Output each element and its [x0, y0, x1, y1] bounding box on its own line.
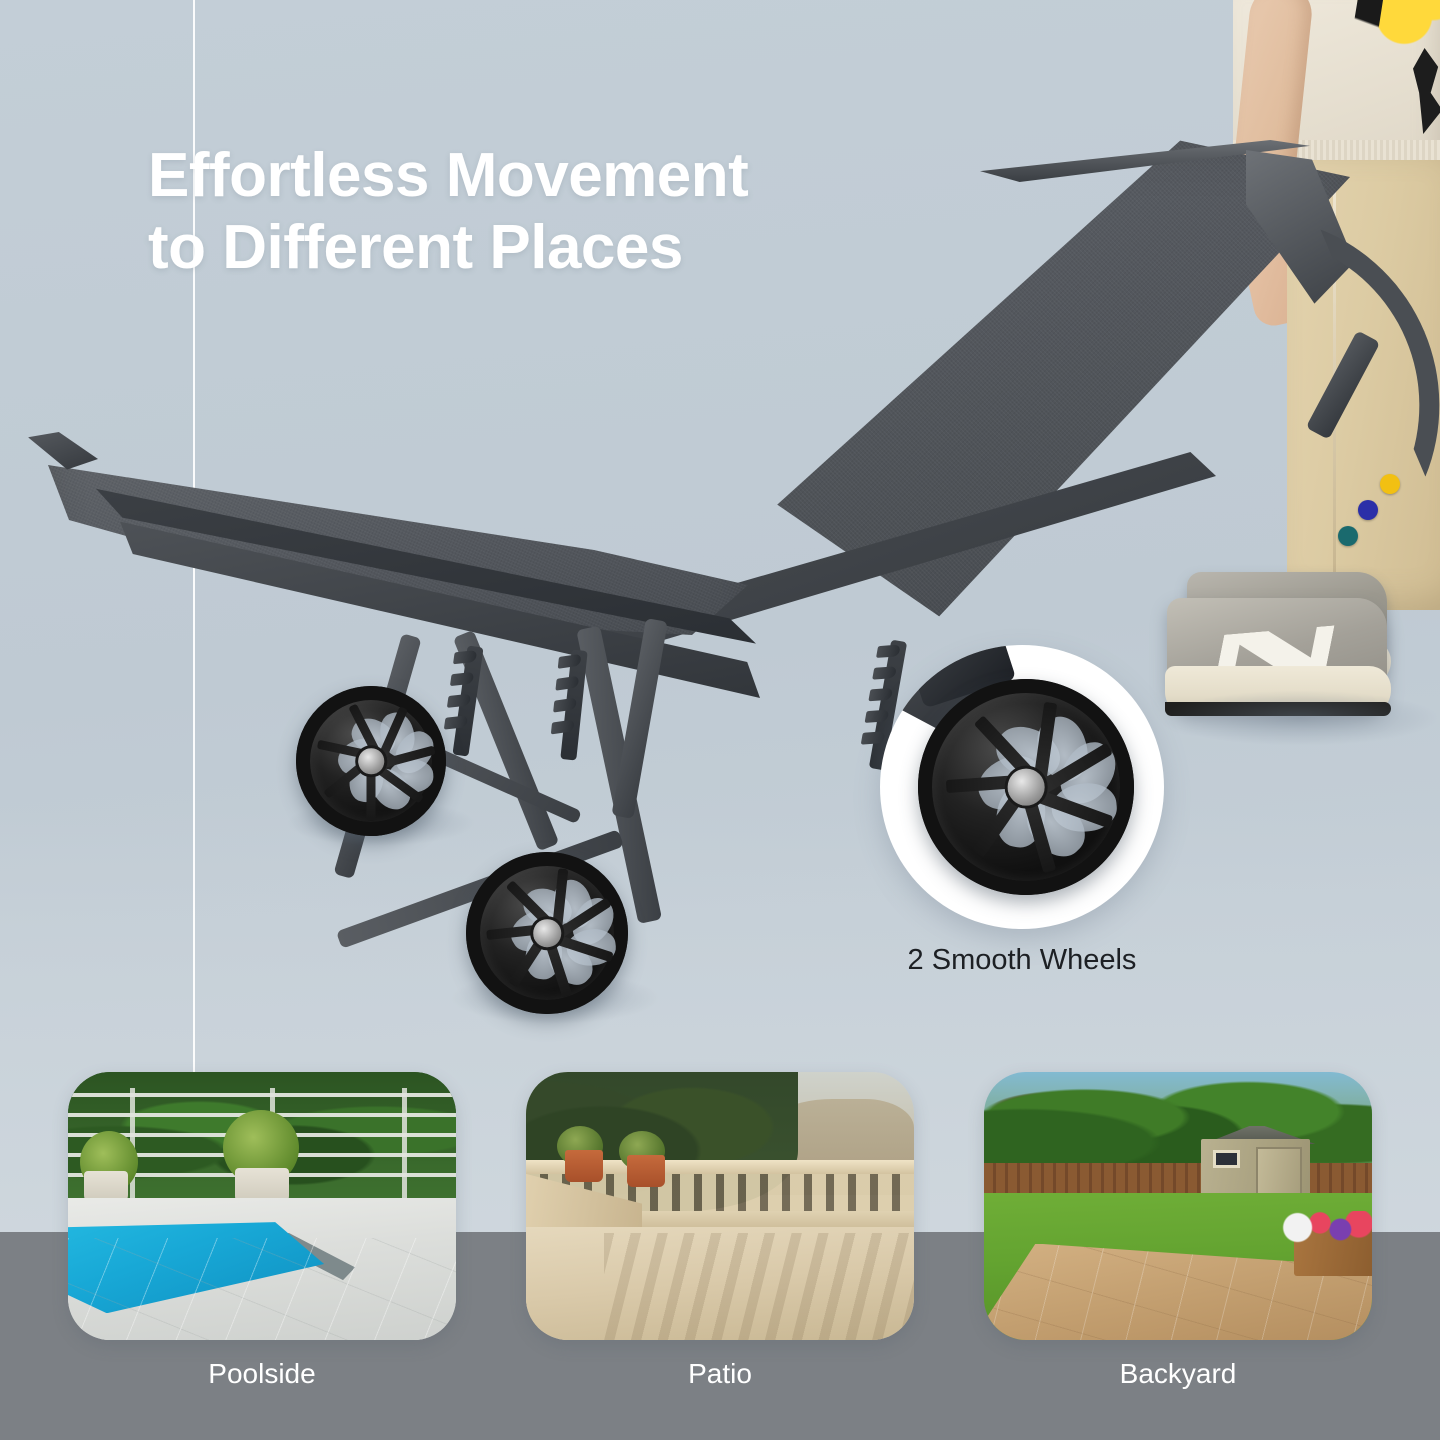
callout-wheel	[918, 679, 1134, 895]
scene-thumbnail-patio[interactable]	[526, 1072, 914, 1340]
railing-post	[402, 1088, 407, 1201]
caption-poolside: Poolside	[68, 1358, 456, 1390]
recline-notch-rack-2	[560, 649, 587, 760]
caption-backyard: Backyard	[984, 1358, 1372, 1390]
scene-thumbnail-poolside[interactable]	[68, 1072, 456, 1340]
wheel-hub-cap	[1008, 769, 1045, 806]
backyard-flowers	[1279, 1211, 1372, 1243]
wheel-hub-cap	[533, 919, 561, 947]
person-shadow	[1160, 690, 1440, 746]
wheel-hub-cap	[358, 748, 384, 774]
chaise-wheel-near	[466, 852, 628, 1014]
wheel-zoom-callout	[880, 645, 1164, 929]
patio-terracotta-pot	[627, 1155, 665, 1187]
promo-image: Effortless Movement to Different Places	[0, 0, 1440, 1440]
shed-window	[1213, 1150, 1240, 1169]
wheel-callout-label: 2 Smooth Wheels	[880, 944, 1164, 977]
scene-thumbnail-backyard[interactable]	[984, 1072, 1372, 1340]
deck-tile-lines	[68, 1238, 456, 1340]
patio-terracotta-pot	[565, 1150, 603, 1182]
chaise-wheel-far	[296, 686, 446, 836]
chaise-lounge	[0, 0, 1440, 1060]
caption-patio: Patio	[526, 1358, 914, 1390]
patio-railing-shadow	[604, 1233, 914, 1340]
